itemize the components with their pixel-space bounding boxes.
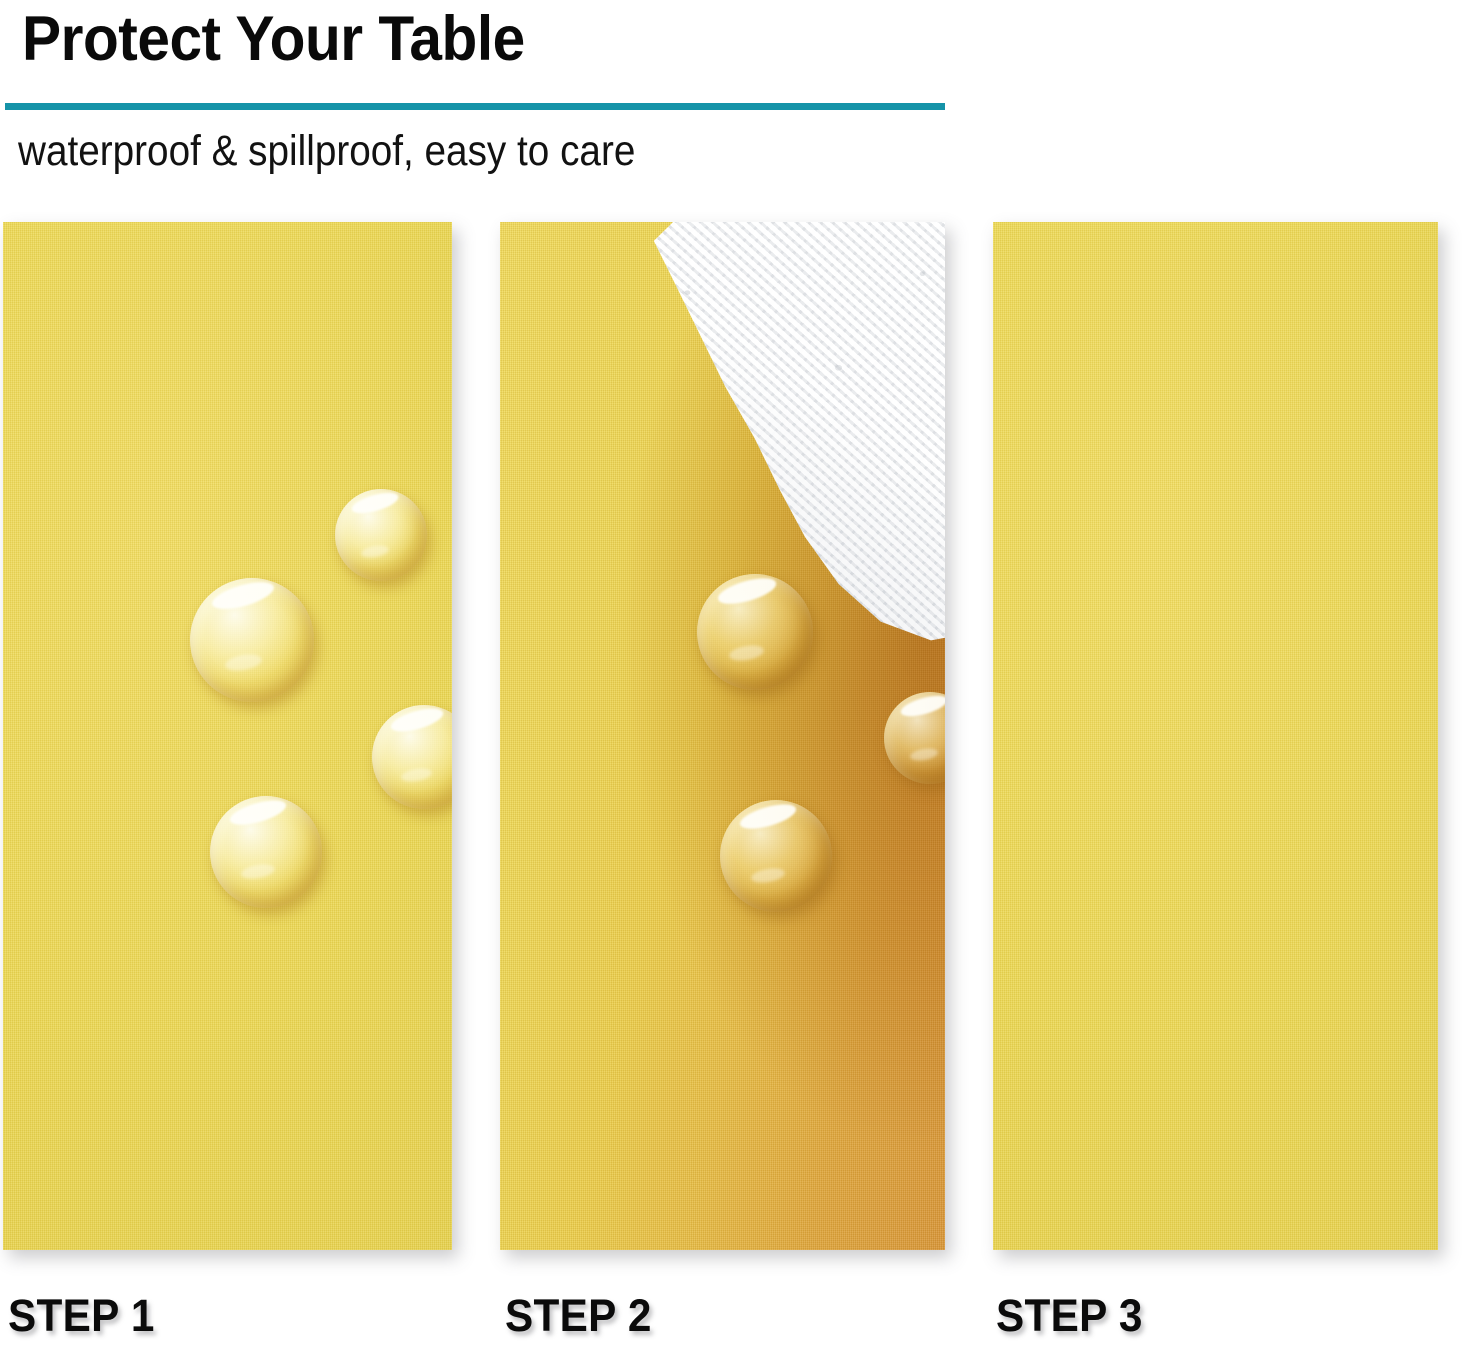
water-droplet [720, 800, 832, 912]
yellow-fabric-texture [993, 222, 1438, 1250]
step-3-image [993, 222, 1438, 1250]
page-title: Protect Your Table [22, 6, 525, 72]
teal-divider [5, 103, 945, 110]
water-droplet [190, 578, 314, 702]
step-1-image [3, 222, 452, 1250]
water-droplet [335, 489, 427, 581]
step-3-label: STEP 3 [996, 1290, 1143, 1342]
step-2-image [500, 222, 945, 1250]
step-2-label: STEP 2 [505, 1290, 652, 1342]
step-1-label: STEP 1 [8, 1290, 155, 1342]
water-droplet [210, 796, 322, 908]
page-subtitle: waterproof & spillproof, easy to care [18, 127, 635, 176]
water-droplet [697, 574, 813, 690]
